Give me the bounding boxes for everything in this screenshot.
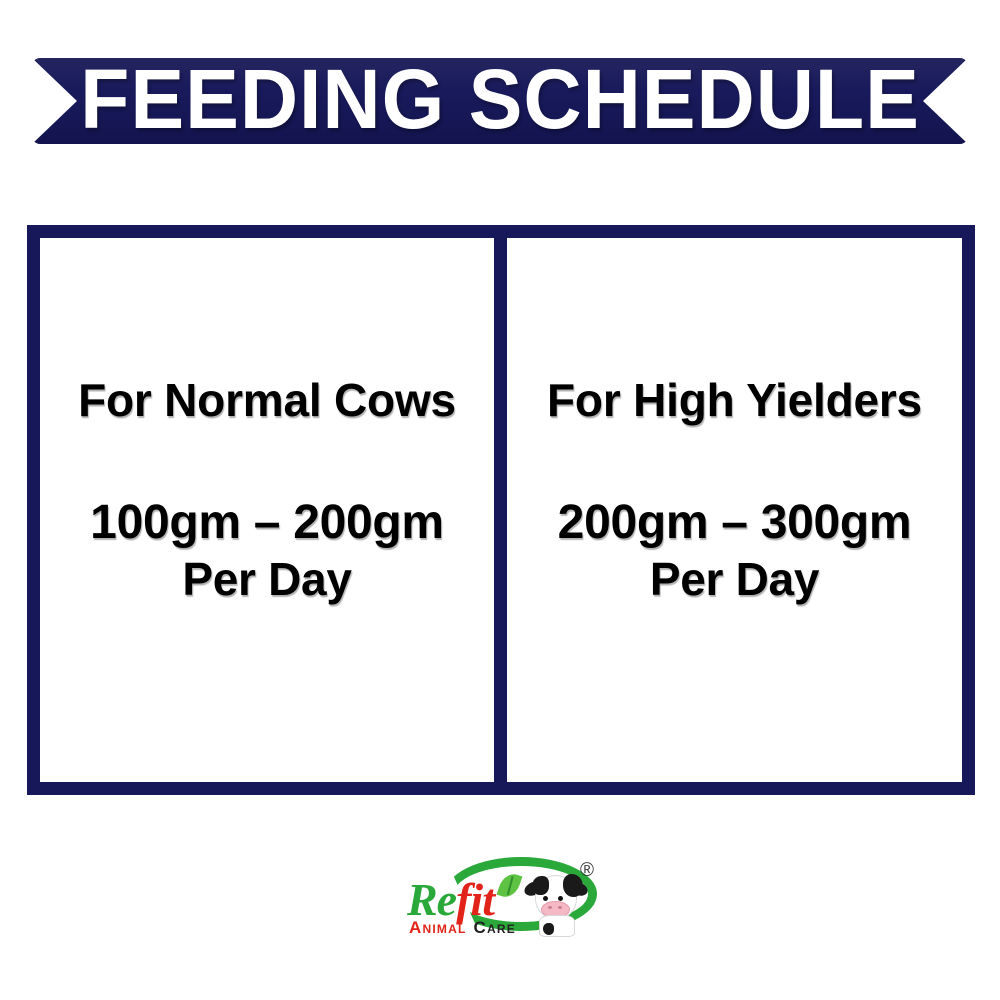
panel-high-yielders: For High Yielders 200gm – 300gm Per Day [501,238,962,782]
cow-nostril-right [558,906,562,909]
page-title: FEEDING SCHEDULE [51,58,950,144]
cow-eye-left [543,896,548,901]
cow-body-spot [543,923,554,935]
logo-tagline-care: Care [473,918,515,937]
registered-trademark-icon: ® [580,861,594,880]
panel-dose-high-yielders: 200gm – 300gm Per Day [558,495,912,606]
panel-normal-cows: For Normal Cows 100gm – 200gm Per Day [40,238,501,782]
brand-logo: Refit AnimalCare ® [397,855,615,955]
dose-range-normal-cows: 100gm – 200gm [90,496,444,549]
cow-nostril-left [548,906,552,909]
schedule-frame: For Normal Cows 100gm – 200gm Per Day Fo… [27,225,975,795]
logo-wordmark: Refit [407,877,494,923]
feeding-schedule-poster: FEEDING SCHEDULE For Normal Cows 100gm –… [0,0,1000,1000]
banner: FEEDING SCHEDULE [32,58,968,144]
dose-period-high-yielders: Per Day [558,552,912,606]
dose-period-normal-cows: Per Day [90,552,444,606]
panel-heading-high-yielders: For High Yielders [547,377,922,423]
logo-tagline-animal: Animal [409,918,466,937]
dose-range-high-yielders: 200gm – 300gm [558,496,912,549]
cow-patch-left [532,876,549,895]
panel-heading-normal-cows: For Normal Cows [78,377,456,423]
logo-tagline: AnimalCare [409,918,516,938]
panel-dose-normal-cows: 100gm – 200gm Per Day [90,495,444,606]
cow-head-icon [525,871,587,937]
